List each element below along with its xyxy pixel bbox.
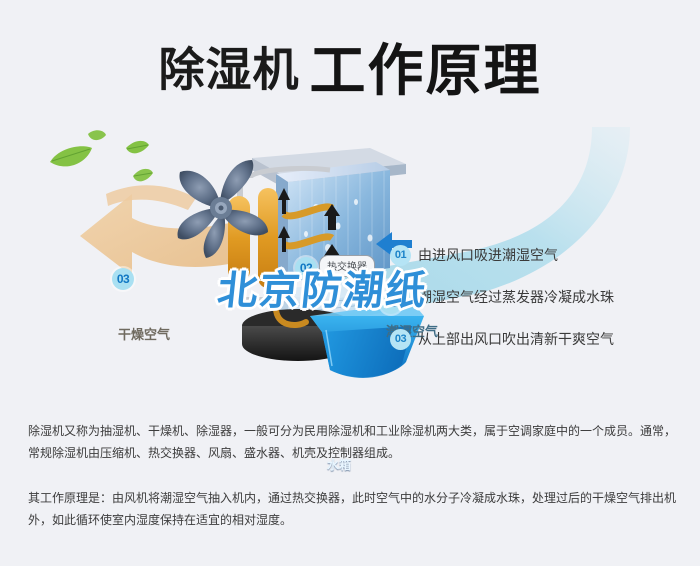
step-text-01: 由进风口吸进潮湿空气 [418,245,558,265]
list-item: 01 由进风口吸进潮湿空气 [390,243,690,267]
body-paragraph-2-text: 其工作原理是：由风机将潮湿空气抽入机内，通过热交换器，此时空气中的水分子冷凝成水… [28,487,676,531]
step-badge-03: 03 [390,329,411,350]
step-list: 01 由进风口吸进潮湿空气 02 潮湿空气经过蒸发器冷凝成水珠 03 从上部出风… [390,243,690,369]
body-paragraph-1-text: 除湿机又称为抽湿机、干燥机、除湿器，一般可分为民用除湿机和工业除湿机两大类，属于… [28,420,676,464]
step-text-02: 潮湿空气经过蒸发器冷凝成水珠 [418,287,614,307]
page-title: 除湿机工作原理 [0,26,700,107]
step-text-03: 从上部出风口吹出清新干爽空气 [418,329,614,349]
page-title-sub: 工作原理 [310,39,542,104]
watermark: 北京防潮纸 [215,258,431,316]
body-paragraph-2: 其工作原理是：由风机将潮湿空气抽入机内，通过热交换器，此时空气中的水分子冷凝成水… [28,487,676,531]
body-paragraph-1: 除湿机又称为抽湿机、干燥机、除湿器，一般可分为民用除湿机和工业除湿机两大类，属于… [28,420,676,464]
list-item: 02 潮湿空气经过蒸发器冷凝成水珠 [390,285,690,309]
label-dry-air: 干燥空气 [118,324,170,343]
page-title-main: 除湿机 [159,43,300,97]
fan-icon [172,158,262,254]
diagram-badge-03: 03 [112,268,134,290]
page-root: 除湿机工作原理 [0,0,700,566]
list-item: 03 从上部出风口吹出清新干爽空气 [390,327,690,351]
